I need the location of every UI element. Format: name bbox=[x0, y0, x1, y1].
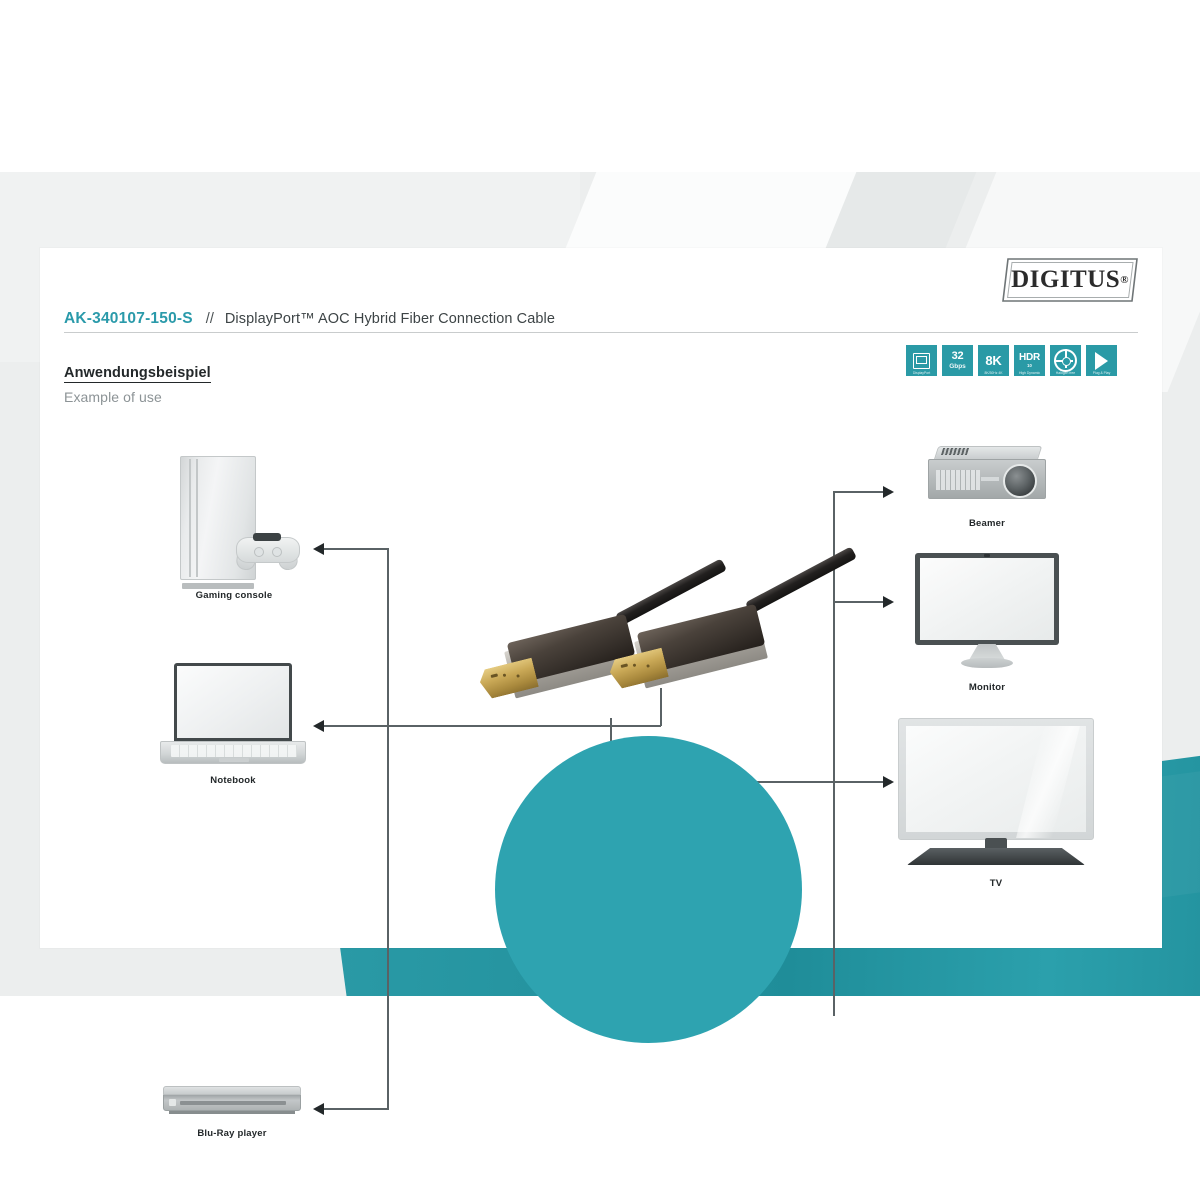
beamer-label: Beamer bbox=[897, 518, 1077, 529]
wire-right-trunk-lower bbox=[833, 781, 835, 1016]
bluray-button bbox=[169, 1099, 176, 1106]
ring-center-icon bbox=[1062, 357, 1071, 366]
gamepad-stick-right bbox=[272, 547, 282, 557]
wire-right-trunk-upper bbox=[833, 491, 835, 781]
arrow-to-bluray bbox=[313, 1103, 324, 1115]
gamepad bbox=[236, 533, 298, 566]
notebook-screen bbox=[174, 663, 292, 741]
contact-dot bbox=[503, 673, 507, 677]
wire-to-beamer bbox=[833, 491, 883, 493]
beamer-grill bbox=[936, 470, 980, 490]
bluray-top bbox=[163, 1086, 301, 1095]
gaming-console-label: Gaming console bbox=[144, 590, 324, 601]
product-spotlight-circle bbox=[495, 736, 802, 1043]
tv bbox=[898, 718, 1094, 868]
tv-screen bbox=[906, 726, 1086, 832]
arrow-to-gaming-console bbox=[313, 543, 324, 555]
notebook bbox=[160, 663, 306, 765]
notebook-base bbox=[160, 741, 306, 764]
monitor-frame bbox=[915, 553, 1059, 645]
wire-tv-branch bbox=[833, 781, 883, 783]
notebook-label: Notebook bbox=[143, 775, 323, 786]
tv-label: TV bbox=[906, 878, 1086, 889]
arrow-to-beamer bbox=[883, 486, 894, 498]
bluray-foot bbox=[169, 1111, 295, 1114]
contact-slot bbox=[491, 673, 499, 678]
wire-to-bluray bbox=[324, 1108, 388, 1110]
tv-stand-base bbox=[907, 848, 1085, 865]
monitor-label: Monitor bbox=[897, 682, 1077, 693]
notebook-touchpad bbox=[219, 758, 249, 762]
notebook-display bbox=[177, 666, 289, 738]
arrow-to-monitor bbox=[883, 596, 894, 608]
console-vent-strip bbox=[196, 459, 198, 577]
wire-to-gaming-console bbox=[324, 548, 388, 550]
arrow-to-notebook bbox=[313, 720, 324, 732]
beamer-body bbox=[928, 459, 1046, 499]
bluray-tray bbox=[180, 1101, 286, 1105]
wire-left-trunk bbox=[387, 548, 389, 1110]
wire-to-monitor bbox=[833, 601, 883, 603]
displayport-connector-right bbox=[580, 578, 820, 728]
gamepad-stick-left bbox=[254, 547, 264, 557]
contact-slot bbox=[621, 663, 629, 668]
bluray-body bbox=[163, 1094, 301, 1111]
beamer bbox=[928, 446, 1046, 502]
monitor bbox=[915, 553, 1059, 669]
cable-lead-right bbox=[745, 546, 857, 614]
beamer-vent bbox=[941, 448, 969, 455]
application-diagram: Gaming console Notebook Blu-Ray player bbox=[40, 248, 1162, 948]
tv-frame bbox=[898, 718, 1094, 840]
monitor-camera-icon bbox=[984, 554, 990, 557]
slide-canvas: DIGITUS® AK-340107-150-S // DisplayPort™… bbox=[0, 0, 1200, 1200]
contact-dot bbox=[516, 674, 520, 678]
arrow-to-tv bbox=[883, 776, 894, 788]
monitor-stand-base bbox=[961, 658, 1013, 668]
beamer-lens bbox=[1003, 464, 1037, 498]
contact-dot bbox=[633, 663, 637, 667]
monitor-screen bbox=[920, 558, 1054, 640]
notebook-keyboard bbox=[171, 745, 297, 757]
bluray-player-label: Blu-Ray player bbox=[142, 1128, 322, 1139]
bluray-player bbox=[163, 1086, 301, 1116]
beamer-label-plate bbox=[981, 477, 999, 481]
console-base bbox=[182, 583, 254, 589]
console-vent-strip bbox=[189, 459, 191, 577]
gamepad-lightbar bbox=[253, 533, 281, 541]
contact-dot bbox=[646, 664, 650, 668]
